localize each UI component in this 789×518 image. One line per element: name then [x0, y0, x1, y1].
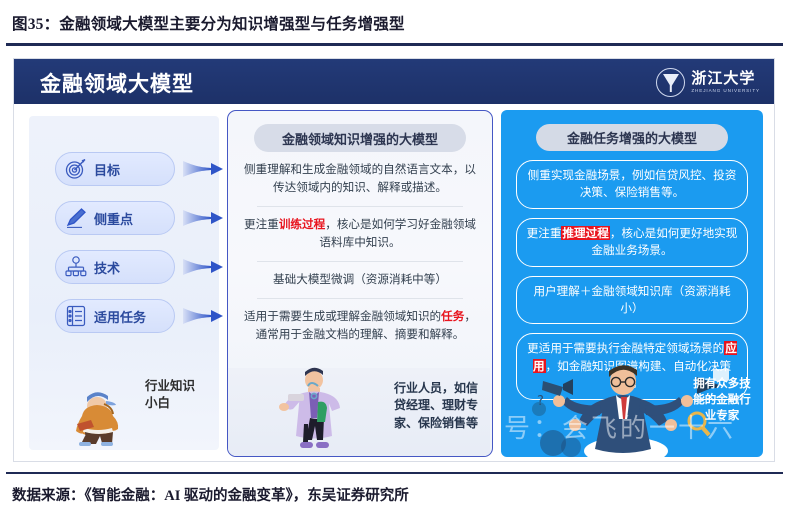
- checklist-icon: [64, 304, 88, 328]
- text-fragment: 更注重: [527, 226, 562, 240]
- text-fragment: ，核心是如何更好地实现金融业务场景。: [591, 226, 737, 257]
- pencil-icon: [64, 206, 88, 230]
- svg-text:?: ?: [537, 394, 544, 409]
- source-note: 数据来源：《智能金融：AI 驱动的金融变革》，东吴证券研究所: [12, 484, 409, 505]
- left-arrow-3: [181, 306, 225, 326]
- title-divider: [6, 43, 783, 46]
- zhejiang-university-logo: 浙江大学 ZHEJIANG UNIVERSITY: [656, 67, 760, 97]
- middle-figure-caption: 行业人员，如信贷经理、理财专家、保险销售等: [394, 380, 478, 432]
- text-fragment: 更适用于需要执行金融特定领域场景的: [527, 341, 724, 355]
- network-icon: [64, 255, 88, 279]
- source-divider: [6, 472, 783, 474]
- left-item-2[interactable]: 技术: [55, 250, 175, 284]
- right-column: 金融任务增强的大模型 侧重实现金融场景，例如信贷风控、投资决策、保险销售等。 更…: [501, 110, 763, 457]
- logo-chinese-name: 浙江大学: [691, 71, 760, 86]
- card-body: 目标 侧重点: [14, 104, 775, 462]
- figure-title: 图35：金融领域大模型主要分为知识增强型与任务增强型: [12, 12, 772, 34]
- left-item-label-2: 技术: [94, 258, 120, 277]
- left-item-label-0: 目标: [94, 160, 120, 179]
- middle-figure-area: 行业人员，如信贷经理、理财专家、保险销售等: [228, 368, 490, 456]
- target-icon: [64, 157, 88, 181]
- text-fragment: 适用于需要生成或理解金融领域知识的: [244, 309, 441, 323]
- left-column: 目标 侧重点: [29, 116, 219, 450]
- left-arrow-1: [181, 208, 225, 228]
- watermark-text: 公众号：会飞的一十六: [501, 408, 763, 445]
- banner-title: 金融领域大模型: [40, 68, 194, 98]
- text-fragment: 用户理解＋金融领域知识库（资源消耗小）: [533, 284, 730, 315]
- left-item-label-3: 适用任务: [94, 307, 146, 326]
- text-fragment: 侧重实现金融场景，例如信贷风控、投资决策、保险销售等。: [528, 168, 737, 199]
- text-fragment: 推理过程: [561, 226, 609, 240]
- left-item-3[interactable]: 适用任务: [55, 299, 175, 333]
- student-illustration: [49, 354, 145, 446]
- text-fragment: 基础大模型微调（资源消耗中等）: [273, 272, 447, 286]
- left-figure-caption: 行业知识小白: [145, 378, 201, 412]
- text-fragment: 训练过程: [279, 217, 325, 231]
- right-row-1[interactable]: 更注重推理过程，核心是如何更好地实现金融业务场景。: [516, 218, 748, 267]
- logo-english-name: ZHEJIANG UNIVERSITY: [691, 89, 760, 94]
- middle-row-0: 侧重理解和生成金融领域的自然语言文本，以传达领域内的知识、解释或描述。: [244, 152, 476, 206]
- right-row-0[interactable]: 侧重实现金融场景，例如信贷风控、投资决策、保险销售等。: [516, 160, 748, 209]
- right-row-2[interactable]: 用户理解＋金融领域知识库（资源消耗小）: [516, 276, 748, 325]
- left-arrow-0: [181, 159, 225, 179]
- middle-column: 金融领域知识增强的大模型 侧重理解和生成金融领域的自然语言文本，以传达领域内的知…: [227, 110, 493, 457]
- middle-row-1: 更注重训练过程，核心是如何学习好金融领域语料库中知识。: [244, 207, 476, 261]
- middle-header: 金融领域知识增强的大模型: [254, 124, 466, 152]
- left-item-label-1: 侧重点: [94, 209, 133, 228]
- professional-illustration: [262, 364, 362, 456]
- left-item-0[interactable]: 目标: [55, 152, 175, 186]
- text-fragment: ，核心是如何学习好金融领域语料库中知识。: [319, 217, 476, 249]
- right-header: 金融任务增强的大模型: [536, 124, 728, 151]
- left-arrow-2: [181, 257, 225, 277]
- university-crest-icon: [656, 68, 685, 97]
- text-fragment: 更注重: [244, 217, 279, 231]
- middle-row-3: 适用于需要生成或理解金融领域知识的任务，通常用于金融文档的理解、摘要和解释。: [244, 299, 476, 353]
- text-fragment: 侧重理解和生成金融领域的自然语言文本，以传达领域内的知识、解释或描述。: [244, 162, 476, 194]
- text-fragment: 任务: [441, 309, 464, 323]
- figure-card: 金融领域大模型 浙江大学 ZHEJIANG UNIVERSITY 目标: [13, 58, 775, 462]
- card-banner: 金融领域大模型 浙江大学 ZHEJIANG UNIVERSITY: [14, 59, 775, 104]
- left-item-1[interactable]: 侧重点: [55, 201, 175, 235]
- middle-row-2: 基础大模型微调（资源消耗中等）: [244, 262, 476, 298]
